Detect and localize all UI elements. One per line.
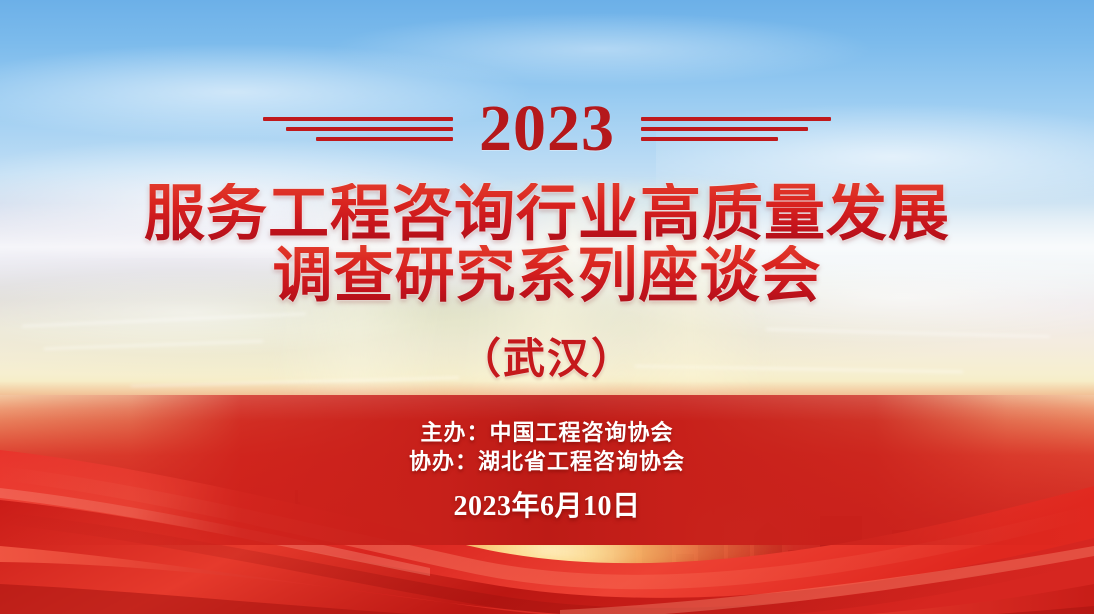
banner-city: （武汉） bbox=[0, 325, 1094, 386]
rule-line bbox=[641, 117, 831, 121]
banner-content: 2023 服务工程咨询行业高质量发展 调查研究系列座谈会 （武汉） 主办：中国工… bbox=[0, 0, 1094, 614]
rule-line bbox=[286, 127, 453, 131]
year-row: 2023 bbox=[0, 96, 1094, 162]
organizer-secondary: 协办：湖北省工程咨询协会 bbox=[0, 448, 1094, 477]
rule-line bbox=[641, 127, 808, 131]
organizer-block: 主办：中国工程咨询协会 协办：湖北省工程咨询协会 bbox=[0, 419, 1094, 477]
conference-banner: 2023 服务工程咨询行业高质量发展 调查研究系列座谈会 （武汉） 主办：中国工… bbox=[0, 0, 1094, 614]
banner-year: 2023 bbox=[453, 96, 641, 162]
rule-line bbox=[316, 137, 453, 141]
triple-rule-left-icon bbox=[263, 117, 453, 141]
rule-line bbox=[641, 137, 778, 141]
triple-rule-right-icon bbox=[641, 117, 831, 141]
banner-title: 服务工程咨询行业高质量发展 调查研究系列座谈会 bbox=[0, 183, 1094, 307]
rule-line bbox=[263, 117, 453, 121]
banner-date: 2023年6月10日 bbox=[0, 484, 1094, 524]
organizer-primary: 主办：中国工程咨询协会 bbox=[0, 419, 1094, 448]
title-line-2: 调查研究系列座谈会 bbox=[0, 245, 1094, 307]
title-line-1: 服务工程咨询行业高质量发展 bbox=[0, 183, 1094, 245]
